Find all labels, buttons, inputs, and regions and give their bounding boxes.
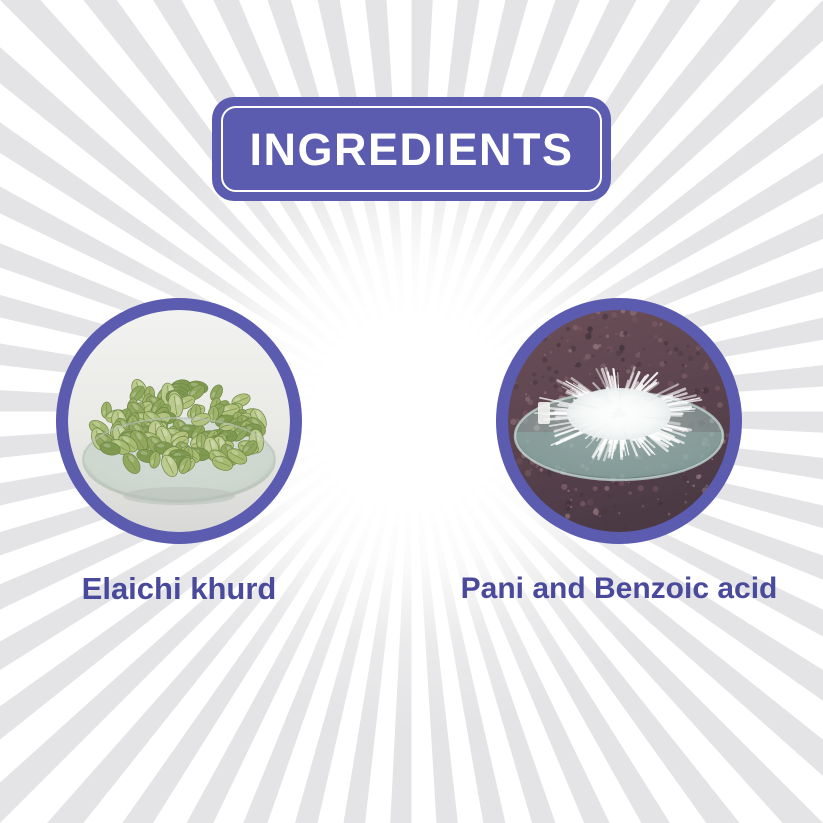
ingredient-image-frame <box>56 298 302 544</box>
ingredients-infographic: INGREDIENTS <box>0 0 823 823</box>
page-title: INGREDIENTS <box>249 127 573 172</box>
page-title-badge: INGREDIENTS <box>212 97 611 201</box>
ingredient-label: Pani and Benzoic acid <box>461 572 778 605</box>
white-benzoic-acid-crystals-in-glass-dish-image <box>508 310 730 532</box>
green-cardamom-pods-in-glass-bowl-image <box>68 310 290 532</box>
ingredient-label: Elaichi khurd <box>82 572 277 606</box>
ingredient-item: Elaichi khurd <box>14 298 344 606</box>
ingredient-item: Pani and Benzoic acid <box>454 298 784 605</box>
ingredient-image-frame <box>496 298 742 544</box>
